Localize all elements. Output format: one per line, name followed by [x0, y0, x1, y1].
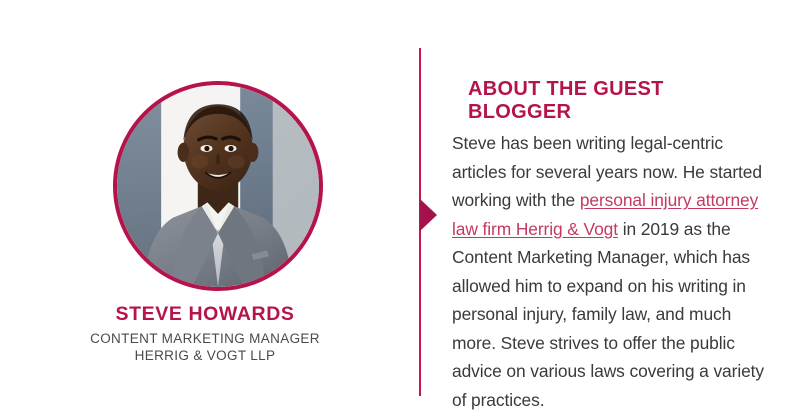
- profile-name: STEVE HOWARDS: [0, 303, 410, 326]
- about-heading: ABOUT THE GUEST BLOGGER: [468, 78, 772, 124]
- about-text-after-link: in 2019 as the Content Marketing Manager…: [452, 219, 764, 410]
- avatar-photo: [117, 85, 319, 287]
- portrait-illustration: [117, 85, 319, 287]
- guest-blogger-bio-card: STEVE HOWARDS CONTENT MARKETING MANAGER …: [0, 0, 811, 406]
- about-column: ABOUT THE GUEST BLOGGER Steve has been w…: [452, 0, 772, 406]
- arrow-right-icon: [420, 199, 437, 231]
- avatar: [113, 81, 323, 291]
- about-body-text: Steve has been writing legal-centric art…: [452, 129, 768, 414]
- profile-role-line-1: CONTENT MARKETING MANAGER: [0, 330, 410, 347]
- profile-role: CONTENT MARKETING MANAGER HERRIG & VOGT …: [0, 330, 410, 364]
- profile-column: STEVE HOWARDS CONTENT MARKETING MANAGER …: [0, 0, 410, 406]
- profile-role-line-2: HERRIG & VOGT LLP: [0, 347, 410, 364]
